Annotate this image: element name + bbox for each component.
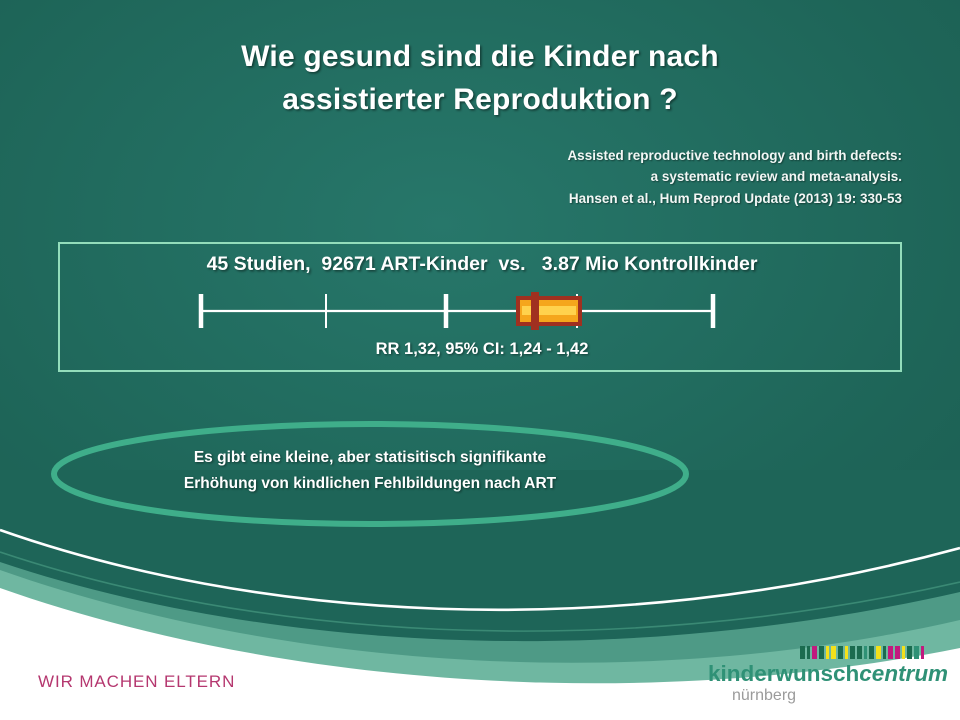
citation-block: Assisted reproductive technology and bir… — [382, 145, 902, 209]
logo-bar — [869, 646, 874, 659]
logo-bar — [845, 646, 848, 659]
logo-bar — [850, 646, 855, 659]
logo-bar — [800, 646, 805, 659]
title-line-2: assistierter Reproduktion ? — [0, 79, 960, 122]
forest-point-estimate-bar — [531, 292, 539, 330]
logo-bar — [883, 646, 886, 659]
logo-bar — [907, 646, 912, 659]
conclusion-text: Es gibt eine kleine, aber statisitisch s… — [50, 445, 690, 496]
slide: Wie gesund sind die Kinder nach assistie… — [0, 0, 960, 720]
logo-bar — [902, 646, 905, 659]
logo-bar — [876, 646, 881, 659]
forest-summary-marker-highlight — [522, 306, 576, 315]
forest-tick-major-3 — [711, 294, 716, 328]
citation-line-1: Assisted reproductive technology and bir… — [382, 145, 902, 166]
forest-tick-minor-1 — [325, 294, 327, 328]
logo-bar — [857, 646, 862, 659]
logo-bar — [921, 646, 924, 659]
brand-logo: kinderwunschcentrum nürnberg — [708, 646, 938, 705]
logo-word-part2: centrum — [859, 661, 948, 686]
logo-wordmark: kinderwunschcentrum — [708, 661, 938, 686]
logo-bar — [812, 646, 817, 659]
conclusion-line-1: Es gibt eine kleine, aber statisitisch s… — [50, 445, 690, 471]
forest-tick-major-1 — [199, 294, 204, 328]
forest-tick-major-2 — [444, 294, 449, 328]
logo-bar — [895, 646, 900, 659]
slide-title: Wie gesund sind die Kinder nach assistie… — [0, 36, 960, 121]
logo-bar — [831, 646, 836, 659]
study-summary-box: 45 Studien, 92671 ART-Kinder vs. 3.87 Mi… — [58, 242, 902, 372]
conclusion-callout: Es gibt eine kleine, aber statisitisch s… — [50, 418, 690, 530]
logo-bar — [807, 646, 810, 659]
logo-bar — [888, 646, 893, 659]
forest-plot — [60, 289, 904, 335]
citation-line-2: a systematic review and meta-analysis. — [382, 166, 902, 187]
logo-colorbars-icon — [800, 646, 938, 659]
logo-bar — [864, 646, 867, 659]
citation-line-3: Hansen et al., Hum Reprod Update (2013) … — [382, 188, 902, 209]
logo-bar — [826, 646, 829, 659]
title-line-1: Wie gesund sind die Kinder nach — [0, 36, 960, 79]
logo-word-part1: kinderwunsch — [708, 661, 859, 686]
logo-bar — [914, 646, 919, 659]
logo-city: nürnberg — [732, 686, 938, 705]
conclusion-line-2: Erhöhung von kindlichen Fehlbildungen na… — [50, 471, 690, 497]
footer-tagline: WIR MACHEN ELTERN — [38, 672, 235, 692]
logo-bar — [819, 646, 824, 659]
logo-bar — [838, 646, 843, 659]
study-heading: 45 Studien, 92671 ART-Kinder vs. 3.87 Mi… — [60, 253, 904, 276]
study-result: RR 1,32, 95% CI: 1,24 - 1,42 — [60, 340, 904, 359]
